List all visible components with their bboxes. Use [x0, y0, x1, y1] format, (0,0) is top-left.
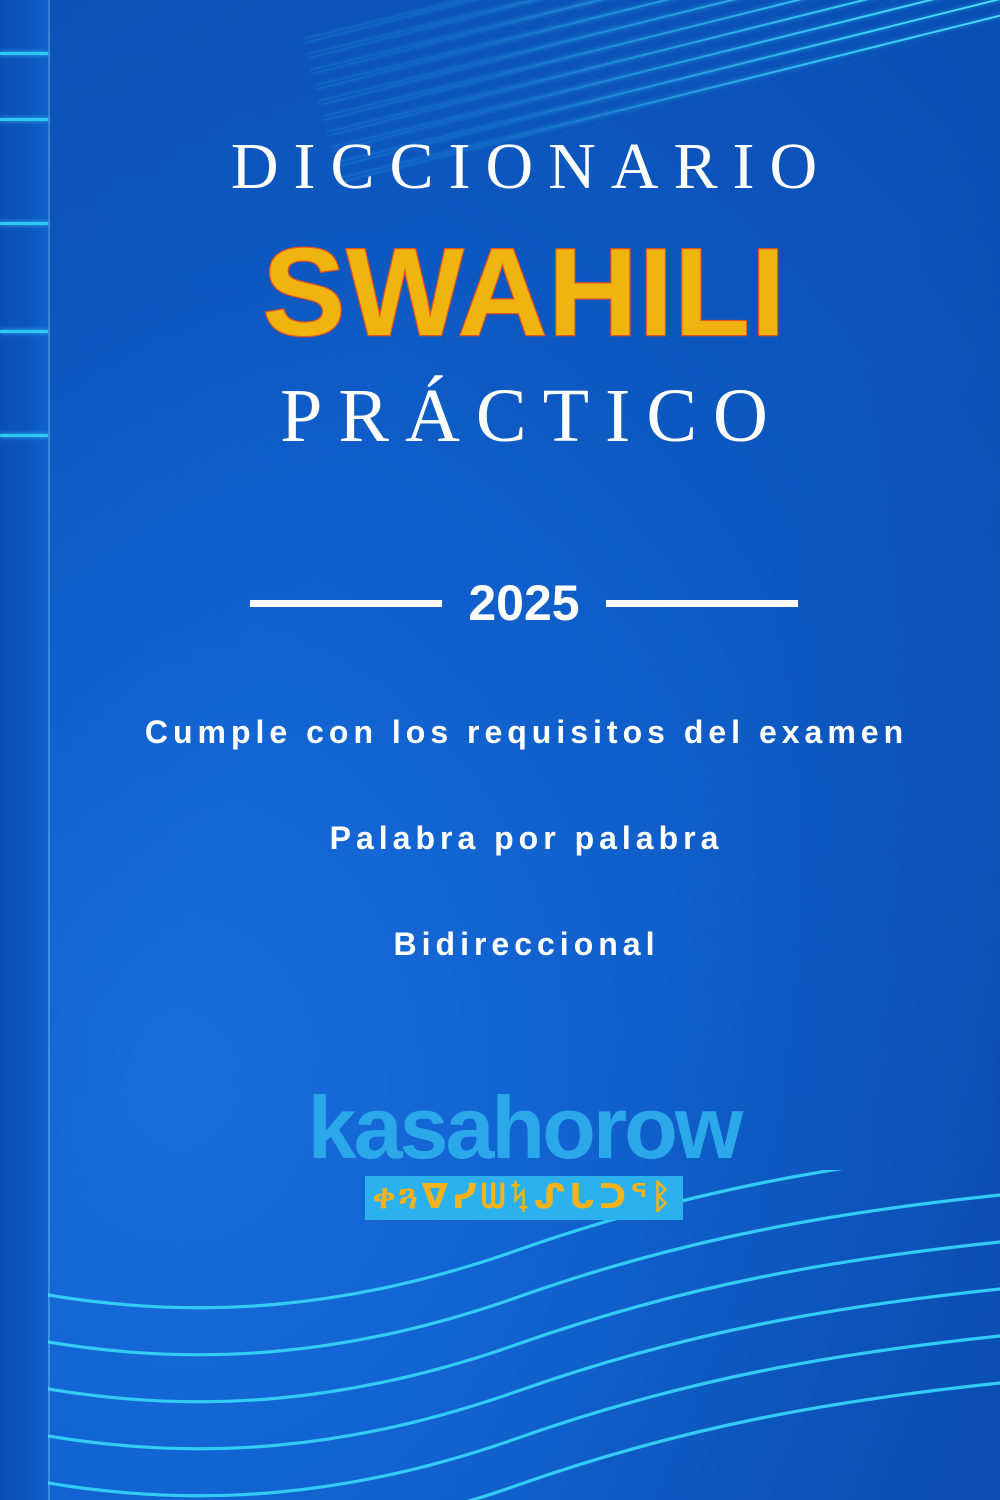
publisher-script-text: ቀጓᐁᓯᗯᛪᔑᒐᑐᕐᛒ	[373, 1177, 676, 1217]
feature-list: Cumple con los requisitos del examen Pal…	[48, 710, 1000, 966]
feature-item-word-by-word: Palabra por palabra	[48, 816, 1000, 860]
book-cover: DICCIONARIO SWAHILI PRÁCTICO 2025 Cumple…	[0, 0, 1000, 1500]
publisher-script-bar: ቀጓᐁᓯᗯᛪᔑᒐᑐᕐᛒ	[365, 1176, 684, 1220]
year-rule-right	[606, 600, 798, 607]
publisher-logo: kasahorow ቀጓᐁᓯᗯᛪᔑᒐᑐᕐᛒ	[48, 1086, 1000, 1220]
title-practico: PRÁCTICO	[48, 377, 1000, 457]
feature-item-exam-requirements: Cumple con los requisitos del examen	[48, 710, 1000, 754]
year-label: 2025	[468, 578, 579, 628]
year-rule-left	[250, 600, 442, 607]
title-diccionario: DICCIONARIO	[48, 132, 1000, 201]
title-block: DICCIONARIO SWAHILI PRÁCTICO	[48, 132, 1000, 457]
feature-item-bidirectional: Bidireccional	[48, 922, 1000, 966]
year-row: 2025	[48, 578, 1000, 628]
spine-accent-lines	[0, 0, 48, 560]
title-swahili: SWAHILI	[48, 227, 1000, 361]
cover-content: DICCIONARIO SWAHILI PRÁCTICO 2025 Cumple…	[48, 0, 1000, 1500]
publisher-name: kasahorow	[48, 1086, 1000, 1170]
